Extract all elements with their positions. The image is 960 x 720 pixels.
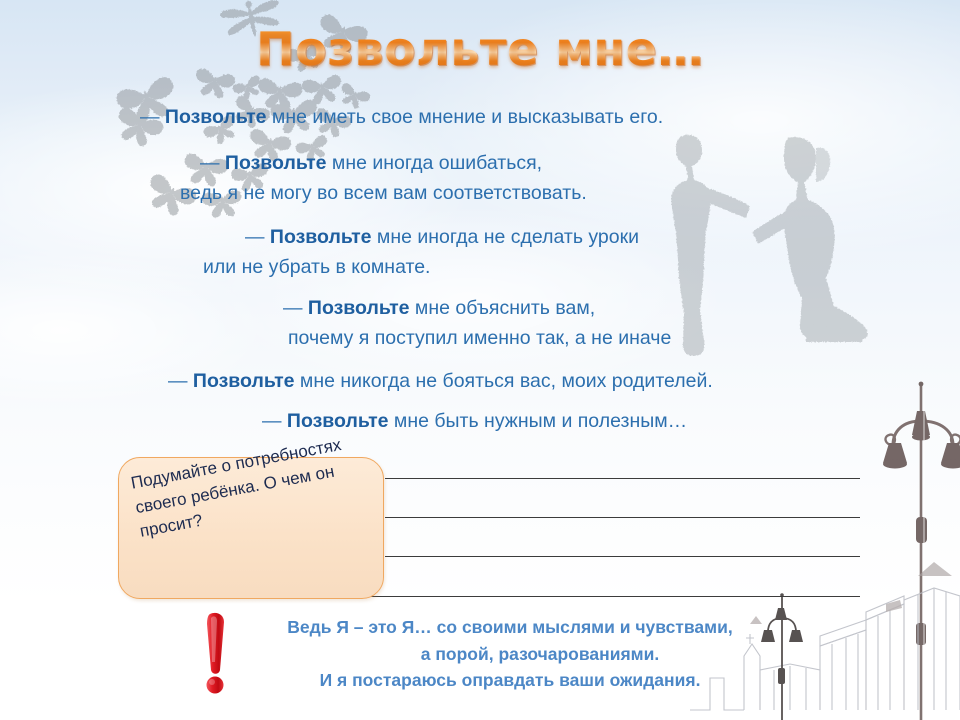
verse-continuation-3: или не убрать в комнате. [203, 256, 430, 279]
verse-rest-3: мне иногда не сделать уроки [372, 226, 640, 248]
verse-rest-1: мне иметь свое мнение и высказывать его. [267, 106, 664, 128]
closing-text: Ведь Я – это Я… со своими мыслями и чувс… [240, 614, 780, 694]
verse-line-3: — Позвольте мне иногда не сделать уроки [245, 226, 639, 249]
verse-dash-5: — [168, 370, 188, 392]
verse-dash-2: — [200, 152, 220, 174]
verse-dash-1: — [140, 106, 160, 128]
writing-line-2 [385, 517, 860, 518]
writing-line-3 [385, 556, 860, 557]
verse-strong-5: Позвольте [193, 370, 295, 392]
verse-rest-5: мне никогда не бояться вас, моих родител… [295, 370, 713, 392]
verse-dash-6: — [262, 410, 282, 432]
verse-strong-2: Позвольте [225, 152, 327, 174]
verse-continuation-4: почему я поступил именно так, а не иначе [288, 327, 671, 350]
closing-line-3: И я постараюсь оправдать ваши ожидания. [240, 667, 780, 694]
closing-line-2: а порой, разочарованиями. [240, 641, 780, 668]
verse-continuation-2: ведь я не могу во всем вам соответствова… [180, 182, 587, 205]
verse-strong-4: Позвольте [308, 297, 410, 319]
verse-line-4: — Позвольте мне объяснить вам, [283, 297, 595, 320]
verse-rest-2: мне иногда ошибаться, [327, 152, 543, 174]
callout-text: Подумайте о потребностях своего ребёнка.… [129, 427, 386, 545]
exclamation-mark-icon [198, 612, 236, 696]
verse-strong-3: Позвольте [270, 226, 372, 248]
writing-line-1 [385, 478, 860, 479]
verse-dash-4: — [283, 297, 303, 319]
verse-line-6: — Позвольте мне быть нужным и полезным… [262, 410, 687, 433]
verse-line-2: — Позвольте мне иногда ошибаться, [200, 152, 542, 175]
verse-line-1: — Позвольте мне иметь свое мнение и выск… [140, 106, 663, 129]
page-title: Позвольте мне… [0, 22, 960, 76]
verse-rest-6: мне быть нужным и полезным… [389, 410, 688, 432]
slide-canvas: Позвольте мне… — Позвольте мне иметь сво… [0, 0, 960, 720]
callout-box: Подумайте о потребностях своего ребёнка.… [118, 457, 384, 599]
verse-line-5: — Позвольте мне никогда не бояться вас, … [168, 370, 713, 393]
street-lamp-icon [875, 375, 960, 720]
verse-rest-4: мне объяснить вам, [410, 297, 596, 319]
closing-line-1: Ведь Я – это Я… со своими мыслями и чувс… [240, 614, 780, 641]
verse-dash-3: — [245, 226, 265, 248]
verse-strong-1: Позвольте [165, 106, 267, 128]
